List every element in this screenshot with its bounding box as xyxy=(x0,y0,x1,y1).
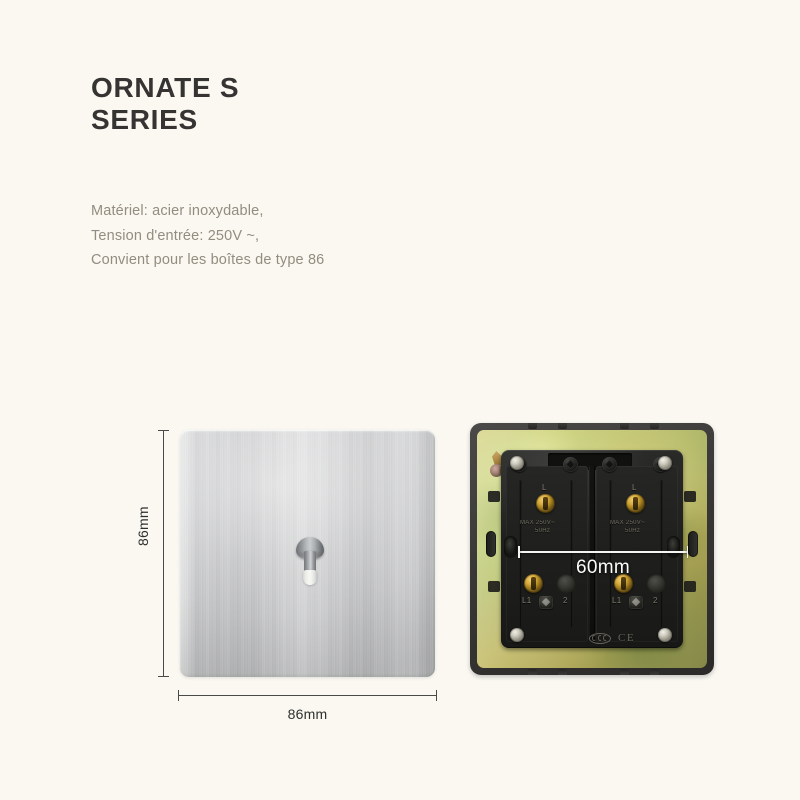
gang-rail xyxy=(570,480,573,628)
terminal-screw-live-2[interactable] xyxy=(626,494,645,513)
dimension-line-vertical xyxy=(163,430,164,677)
plate-lug xyxy=(684,581,696,592)
terminal-label-live-2: L xyxy=(632,483,637,492)
gang-divider xyxy=(589,466,595,642)
frame-notch xyxy=(558,423,567,429)
spec-voltage: Tension d'entrée: 250V ~, xyxy=(91,224,521,249)
rating-label-1a: MAX 250V~ xyxy=(520,520,555,527)
mounting-claw-slot xyxy=(486,531,496,557)
body-rivet xyxy=(510,628,524,642)
gang-module-2 xyxy=(596,466,678,642)
clamp-screw[interactable] xyxy=(563,457,578,472)
page-title-line-1: ORNATE S xyxy=(91,72,511,104)
frame-notch xyxy=(650,423,659,429)
dimension-label-mounting: 60mm xyxy=(518,557,688,579)
clamp-screw[interactable] xyxy=(602,457,617,472)
spec-box-type: Convient pour les boîtes de type 86 xyxy=(91,248,521,273)
certification-marks: CE xyxy=(589,632,635,644)
terminal-clamp-screw-1[interactable] xyxy=(539,596,553,609)
ccc-certification-icon xyxy=(589,633,611,644)
gang-rail xyxy=(609,480,612,628)
rating-label-2b: 50Hz xyxy=(625,528,640,535)
frame-notch xyxy=(528,423,537,429)
body-rivet xyxy=(658,628,672,642)
rating-label-1b: 50Hz xyxy=(535,528,550,535)
terminal-label-out-2: L1 xyxy=(612,596,622,605)
switch-mechanism-rear: L MAX 250V~ 50Hz L MAX 250V~ 50Hz L1 2 L… xyxy=(470,423,714,675)
mounting-claw-slot xyxy=(688,531,698,557)
dimension-line-horizontal xyxy=(178,695,437,696)
wire-entry-port xyxy=(504,536,517,558)
ce-mark-label: CE xyxy=(618,632,635,644)
product-spec-canvas: ORNATE S SERIES Matériel: acier inoxydab… xyxy=(0,0,800,800)
rating-label-2a: MAX 250V~ xyxy=(610,520,645,527)
terminal-label-alt-1: 2 xyxy=(563,596,568,605)
spec-material: Matériel: acier inoxydable, xyxy=(91,199,521,224)
plate-lug xyxy=(684,491,696,502)
body-rivet xyxy=(658,456,672,470)
terminal-clamp-screw-2[interactable] xyxy=(629,596,643,609)
toggle-lever-icon[interactable] xyxy=(296,537,324,587)
wire-entry-port xyxy=(667,536,680,558)
plate-lug xyxy=(488,491,500,502)
specification-list: Matériel: acier inoxydable, Tension d'en… xyxy=(91,199,521,273)
terminal-label-live-1: L xyxy=(542,483,547,492)
dimension-line-mounting xyxy=(518,551,688,553)
plate-lug xyxy=(488,581,500,592)
frame-notch xyxy=(620,669,629,675)
terminal-label-out-1: L1 xyxy=(522,596,532,605)
body-rivet xyxy=(510,456,524,470)
frame-notch xyxy=(558,669,567,675)
frame-notch xyxy=(650,669,659,675)
frame-notch xyxy=(528,669,537,675)
terminal-label-alt-2: 2 xyxy=(653,596,658,605)
switch-body: L MAX 250V~ 50Hz L MAX 250V~ 50Hz L1 2 L… xyxy=(501,450,683,648)
dimension-label-width: 86mm xyxy=(178,706,437,722)
gang-rail xyxy=(660,480,663,628)
dimension-label-height: 86mm xyxy=(135,516,151,546)
terminal-screw-live-1[interactable] xyxy=(536,494,555,513)
page-title: ORNATE S SERIES xyxy=(91,72,511,136)
page-title-line-2: SERIES xyxy=(91,104,511,136)
frame-notch xyxy=(620,423,629,429)
toggle-tip xyxy=(303,570,317,585)
